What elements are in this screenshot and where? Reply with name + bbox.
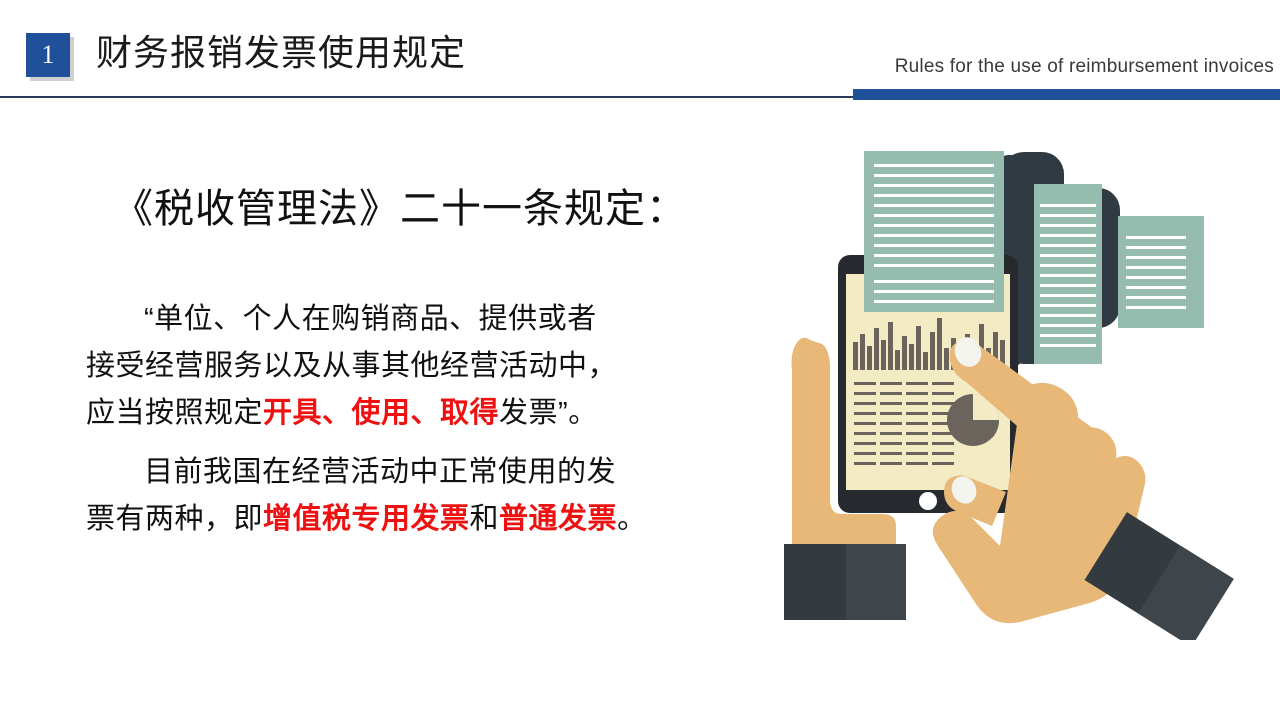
illustration-hands-tablet (770, 120, 1280, 640)
explanation-paragraph: 目前我国在经营活动中正常使用的发 票有两种，即增值税专用发票和普通发票。 (60, 449, 740, 543)
section-number-badge: 1 (26, 33, 70, 77)
section-number-label: 1 (26, 33, 70, 77)
quote-line-2: 接受经营服务以及从事其他经营活动中， (86, 350, 617, 382)
slide-header: 1 财务报销发票使用规定 Rules for the use of reimbu… (0, 0, 1280, 100)
emphasis-vat-invoice: 增值税专用发票 (263, 503, 470, 535)
page-subtitle-english: Rules for the use of reimbursement invoi… (895, 56, 1274, 78)
quote-line-1: “单位、个人在购销商品、提供或者 (144, 303, 597, 335)
quote-emphasis-actions: 开具、使用、取得 (263, 397, 499, 429)
explanation-line-2-middle: 和 (470, 503, 500, 535)
explanation-line-1: 目前我国在经营活动中正常使用的发 (144, 456, 616, 488)
tablet-home-button (919, 492, 937, 510)
document-page-3 (1118, 216, 1204, 328)
law-citation-title: 《税收管理法》二十一条规定： (60, 176, 740, 234)
document-2-text-lines (1040, 204, 1096, 347)
slide-body-text: 《税收管理法》二十一条规定： “单位、个人在购销商品、提供或者 接受经营服务以及… (60, 150, 740, 543)
quote-line-3-before: 应当按照规定 (86, 397, 263, 429)
explanation-line-2-before: 票有两种，即 (86, 503, 263, 535)
quote-line-3-after: 发票”。 (499, 397, 598, 429)
header-accent-bar (853, 89, 1280, 100)
explanation-line-2-after: 。 (617, 503, 647, 535)
page-title: 财务报销发票使用规定 (96, 24, 466, 76)
document-page-2 (1034, 184, 1102, 364)
right-hand (933, 333, 1234, 640)
emphasis-general-invoice: 普通发票 (499, 503, 617, 535)
quote-paragraph: “单位、个人在购销商品、提供或者 接受经营服务以及从事其他经营活动中， 应当按照… (60, 296, 740, 437)
screen-document-overlap (864, 274, 1004, 312)
